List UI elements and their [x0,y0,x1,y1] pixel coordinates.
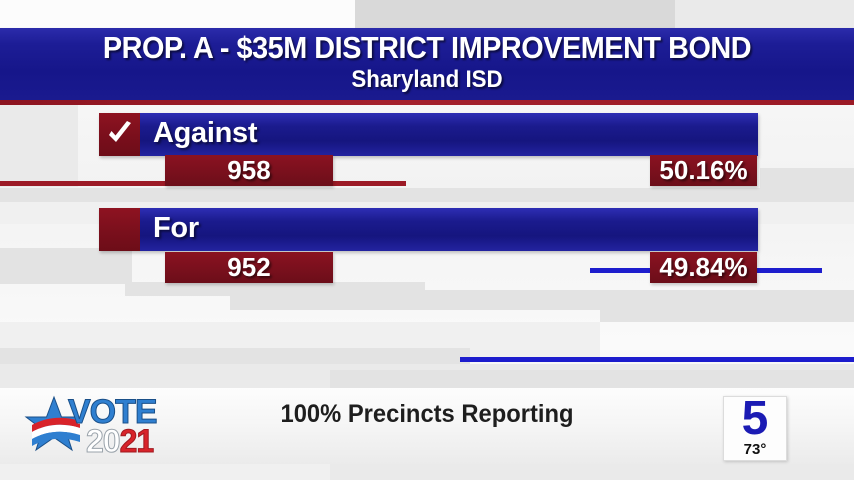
election-results-graphic: PROP. A - $35M DISTRICT IMPROVEMENT BOND… [0,0,854,480]
bg-plate-lower-3 [600,300,854,322]
station-logo: 5 73° [723,396,787,461]
bg-plate-footer-3 [0,464,330,480]
candidate-name-bar: For [99,208,758,251]
bg-plate-left-upper [0,105,78,187]
vote-count-box: 952 [165,252,333,283]
vote-count-box: 958 [165,155,333,186]
vote-percent-box: 50.16% [650,155,757,186]
page-subtitle: Sharyland ISD [30,66,824,94]
bg-plate-top-right [675,0,854,28]
candidate-label: For [153,212,199,245]
vote-percent-box: 49.84% [650,252,757,283]
bg-plate-top-gray [355,0,675,28]
bg-plate-top-left [0,0,355,28]
leading-checkbox [99,208,140,251]
bg-plate-mid-band [0,188,854,202]
candidate-name-bar: Against [99,113,758,156]
bg-plate-left-mid [0,248,132,284]
leading-checkbox [99,113,140,156]
station-temperature: 73° [724,441,786,458]
bg-plate-lower-7 [330,370,854,388]
checkmark-icon [106,120,134,148]
bg-plate-lower-5 [0,348,470,364]
bg-plate-right-upper [760,168,854,190]
page-title: PROP. A - $35M DISTRICT IMPROVEMENT BOND [30,30,824,66]
title-banner: PROP. A - $35M DISTRICT IMPROVEMENT BOND… [0,28,854,100]
accent-line-blue-2 [460,357,854,362]
precincts-reporting-text: 100% Precincts Reporting [21,400,832,429]
station-channel-number: 5 [724,391,786,446]
candidate-label: Against [153,117,257,150]
